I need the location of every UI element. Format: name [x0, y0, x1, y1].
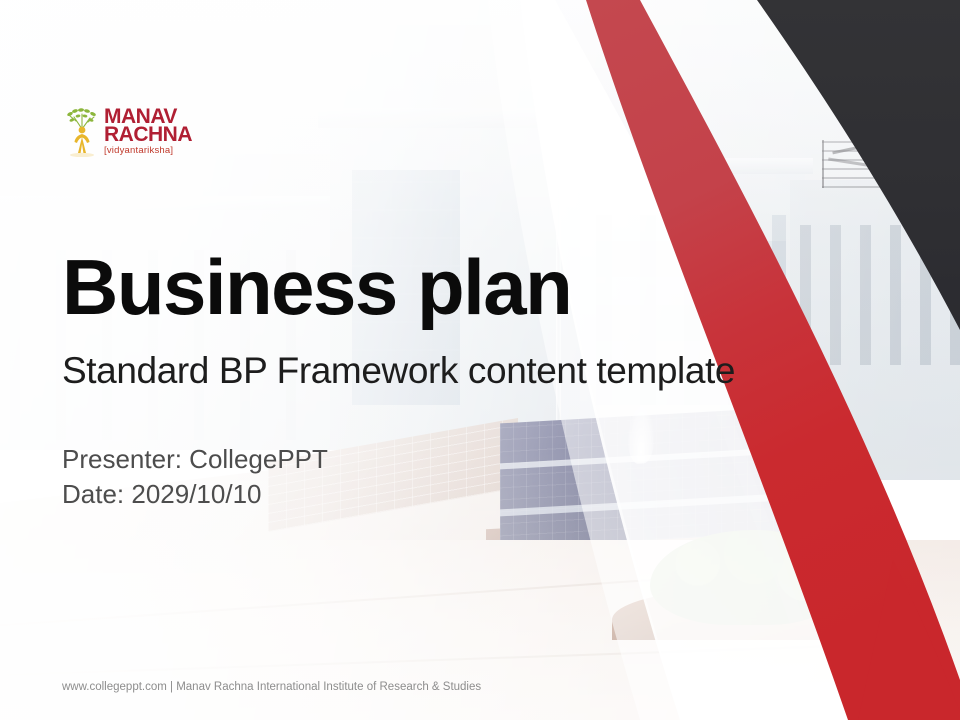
logo-tagline: [vidyantariksha] — [104, 146, 192, 156]
slide-meta: Presenter: CollegePPT Date: 2029/10/10 — [62, 442, 328, 513]
logo-wordmark: MANAV RACHNA [vidyantariksha] — [104, 106, 192, 156]
dark-corner-wedge — [757, 0, 960, 330]
slide-subtitle: Standard BP Framework content template — [62, 352, 735, 389]
date-line: Date: 2029/10/10 — [62, 477, 328, 512]
slide-title: Business plan — [62, 248, 571, 326]
title-slide: MANAV RACHNA [vidyantariksha] Business p… — [0, 0, 960, 720]
institution-logo: MANAV RACHNA [vidyantariksha] — [62, 103, 202, 159]
slide-footer: www.collegeppt.com | Manav Rachna Intern… — [62, 678, 492, 696]
logo-name-line-2: RACHNA — [104, 124, 192, 145]
tree-person-icon — [62, 105, 102, 157]
presenter-line: Presenter: CollegePPT — [62, 442, 328, 477]
